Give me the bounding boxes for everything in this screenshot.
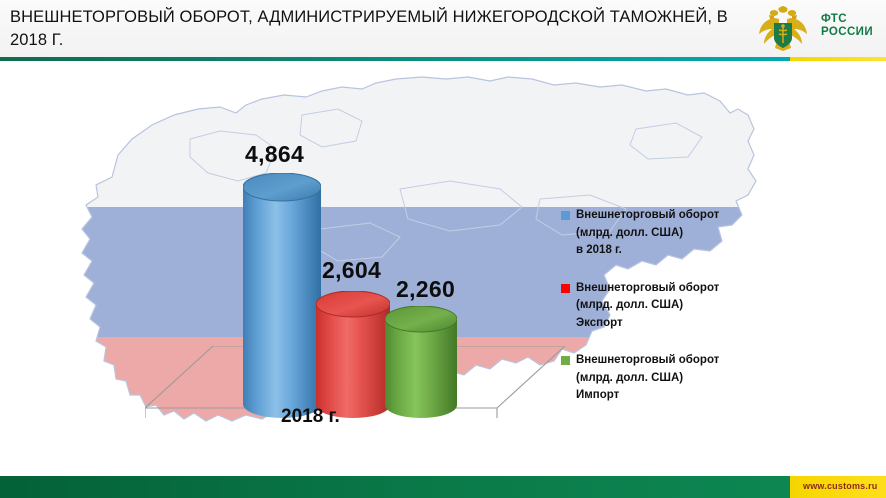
- header-bar: ВНЕШНЕТОРГОВЫЙ ОБОРОТ, АДМИНИСТРИРУЕМЫЙ …: [0, 0, 886, 57]
- customs-url-badge[interactable]: www.customs.ru: [790, 476, 886, 498]
- footer-bar: www.customs.ru: [0, 476, 886, 498]
- data-label-export: 2,604: [322, 257, 381, 284]
- category-axis-label: 2018 г.: [281, 406, 340, 428]
- legend-item-total[interactable]: Внешнеторговый оборот (млрд. долл. США) …: [561, 207, 776, 260]
- data-label-import: 2,260: [396, 276, 455, 303]
- logo-line-1: ФТС: [821, 13, 873, 26]
- legend-total-line-2: (млрд. долл. США): [576, 225, 776, 243]
- legend-total-line-3: в 2018 г.: [576, 242, 776, 260]
- legend-swatch-red-icon: [561, 284, 570, 293]
- legend-export-line-3: Экспорт: [576, 315, 776, 333]
- legend-item-export[interactable]: Внешнеторговый оборот (млрд. долл. США) …: [561, 280, 776, 333]
- customs-url-text: www.customs.ru: [803, 481, 877, 491]
- legend-swatch-blue-icon: [561, 211, 570, 220]
- bar-import[interactable]: [385, 306, 457, 418]
- page-title: ВНЕШНЕТОРГОВЫЙ ОБОРОТ, АДМИНИСТРИРУЕМЫЙ …: [10, 6, 730, 52]
- chart-canvas: 4,864 2,604 2,260 2018 г. Внешнеторговый…: [0, 61, 886, 471]
- legend-export-line-1: Внешнеторговый оборот: [576, 280, 776, 298]
- legend-export-line-2: (млрд. долл. США): [576, 297, 776, 315]
- data-label-total: 4,864: [245, 141, 304, 168]
- bar-export[interactable]: [316, 291, 390, 418]
- logo-text: ФТС РОССИИ: [821, 13, 873, 39]
- bar-total-turnover[interactable]: [243, 173, 321, 418]
- chart-legend: Внешнеторговый оборот (млрд. долл. США) …: [561, 207, 776, 425]
- legend-import-line-3: Импорт: [576, 387, 776, 405]
- fts-logo: ФТС РОССИИ: [755, 5, 881, 53]
- legend-import-line-1: Внешнеторговый оборот: [576, 352, 776, 370]
- legend-swatch-green-icon: [561, 356, 570, 365]
- legend-import-line-2: (млрд. долл. США): [576, 370, 776, 388]
- legend-total-line-1: Внешнеторговый оборот: [576, 207, 776, 225]
- legend-item-import[interactable]: Внешнеторговый оборот (млрд. долл. США) …: [561, 352, 776, 405]
- logo-line-2: РОССИИ: [821, 26, 873, 39]
